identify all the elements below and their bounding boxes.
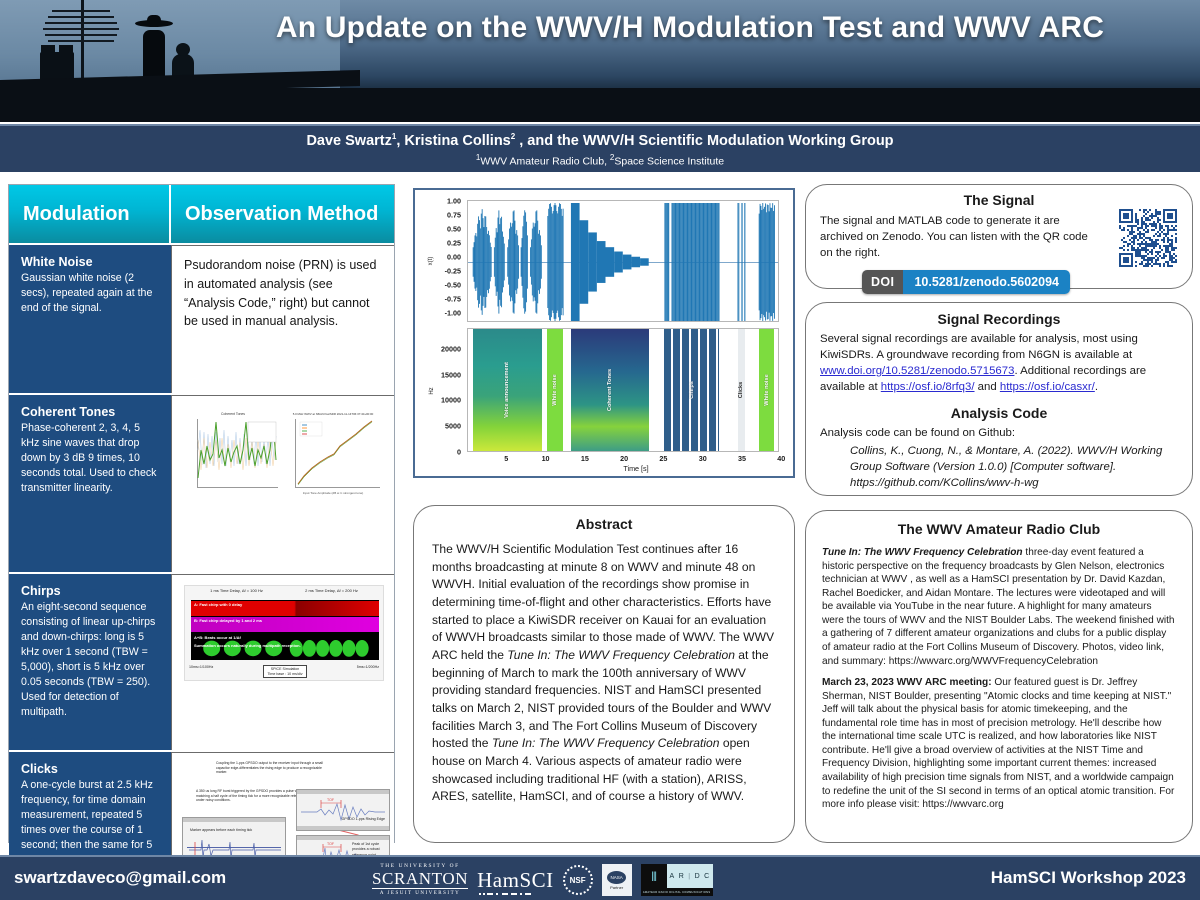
arc-meeting-label: March 23, 2023 WWV ARC meeting: [822, 677, 992, 688]
chirp-period-label-2: 5ms=1/200Hz [357, 665, 379, 678]
figure-axis-label: Input Tone Amplitude (dB w.r.t strongest… [284, 491, 382, 496]
doi-label: DOI [862, 270, 903, 294]
abstract-italic-1: Tune In: The WWV Frequency Celebration [507, 648, 735, 662]
chirp-band-ab: A+B: Beats occur at 1/Δf Summation occur… [191, 634, 379, 658]
chirp-band-a-label: A: Fast chirp with 0 delay [194, 602, 242, 608]
spectrogram-segment: White noise [547, 329, 563, 451]
y-tick: 20000 [421, 344, 461, 353]
abstract-text: The WWV/H Scientific Modulation Test con… [432, 541, 776, 806]
doi-badge[interactable]: DOI 10.5281/zenodo.5602094 [862, 270, 1070, 294]
chirp-band-b: B: Fast chirp delayed by 1 and 2 ms [191, 617, 379, 631]
hamsci-morse-dots [477, 892, 537, 896]
affiliation-list: 1WWV Amateur Radio Club, 2Space Science … [0, 153, 1200, 168]
yagi-element [45, 22, 117, 24]
tone-linearity-plot: 5.0 MHz WWV at N6GN KiwiSDR 2021-11-14T0… [284, 410, 382, 496]
spectrogram-segment: White noise [759, 329, 775, 451]
column-header-observation: Observation Method [171, 185, 394, 243]
yagi-element [52, 10, 110, 12]
recordings-link-osf-2[interactable]: https://osf.io/casxr/ [1000, 381, 1095, 393]
coherent-tones-figure: Coherent Tones 5.0 MHz WWV at N [186, 410, 382, 496]
table-header-row: Modulation Observation Method [9, 185, 394, 243]
spectrogram-axes: Voice announcementWhite noiseCoherent To… [467, 328, 779, 452]
y-tick: 0.50 [421, 225, 461, 234]
clicks-note-1: Coupling the 1-pps GPSDO output to the r… [216, 761, 324, 775]
waveform-plot [468, 201, 779, 322]
chirp-top-labels: 1 ms Time Delay, Δf = 100 Hz 2 ms Time D… [189, 588, 379, 594]
scope-trace-gpsdo [297, 790, 391, 832]
spice-title: SPICE Simulation [271, 667, 300, 671]
waveform-axes [467, 200, 779, 322]
spectrogram-segment-label: Voice announcement [504, 362, 510, 418]
abstract-panel: Abstract The WWV/H Scientific Modulation… [413, 505, 795, 843]
ardc-waveform-icon: ||| [641, 864, 667, 888]
hamsci-logo: HamSCI [477, 868, 554, 893]
ardc-letter-a: A [670, 873, 675, 880]
arc-title: The WWV Amateur Radio Club [822, 521, 1176, 537]
recordings-title: Signal Recordings [820, 311, 1178, 327]
modulation-title: White Noise [21, 255, 160, 269]
spice-timebase: Time base : 10 ms/div [267, 672, 302, 676]
footer-bar: swartzdaveco@gmail.com THE UNIVERSITY OF… [0, 855, 1200, 900]
x-tick: 5 [504, 454, 508, 463]
y-tick: 1.00 [421, 197, 461, 206]
recordings-link-doi[interactable]: www.doi.org/10.5281/zenodo.5715673 [820, 365, 1014, 377]
x-tick: 10 [542, 454, 550, 463]
column-header-modulation: Modulation [9, 185, 171, 243]
chirp-band-ab-note: Summation occurs naturally during multip… [194, 643, 301, 649]
yagi-element [45, 34, 117, 36]
chirp-delay-label-1: 1 ms Time Delay, Δf = 100 Hz [210, 588, 263, 594]
modulation-title: Clicks [21, 762, 160, 776]
nasa-partner-text: Partner [610, 885, 623, 890]
chirp-period-label-1: 10ms=1/100Hz [189, 665, 213, 678]
cell-modulation: Coherent Tones Phase-coherent 2, 3, 4, 5… [9, 395, 171, 572]
ardc-letter-d: D [695, 873, 701, 880]
yagi-element [48, 16, 114, 18]
signal-panel-title: The Signal [820, 192, 1178, 208]
nasa-logo-mark: NASA [607, 871, 626, 884]
y-tick: -0.75 [421, 295, 461, 304]
nsf-logo: NSF [563, 865, 593, 895]
y-tick: 0 [421, 448, 461, 457]
sponsor-logos: THE UNIVERSITY OF SCRANTON A JESUIT UNIV… [372, 860, 713, 900]
tone-waveform-svg [186, 410, 280, 496]
arc-paragraph-2-text: Our featured guest is Dr. Jeffrey Sherma… [822, 677, 1174, 810]
spectrogram-segment: Clicks [738, 329, 746, 451]
spectrogram-segment: Chirps [664, 329, 719, 451]
signal-panel-text: The signal and MATLAB code to generate i… [820, 213, 1090, 262]
spice-simulation-note: SPICE Simulation Time base : 10 ms/div [263, 665, 306, 678]
antenna-mast [81, 0, 84, 86]
signal-chart-panel: x(t) Hz 1.000.750.500.250.00-0.25-0.50-0… [413, 188, 795, 478]
analysis-code-title: Analysis Code [820, 405, 1178, 421]
linearity-scatter-svg [284, 410, 382, 496]
y-tick: 0.00 [421, 253, 461, 262]
poster-root: An Update on the WWV/H Modulation Test a… [0, 0, 1200, 900]
spectrogram-segment-label: Clicks [738, 382, 744, 398]
arc-panel: The WWV Amateur Radio Club Tune In: The … [805, 510, 1193, 843]
ardc-letter-r: R [679, 873, 685, 880]
cell-modulation: White Noise Gaussian white noise (2 secs… [9, 245, 171, 393]
spectrogram-segment-label: Chirps [689, 381, 695, 399]
spectrogram-segment: Coherent Tones [571, 329, 649, 451]
y-tick: 0.75 [421, 211, 461, 220]
chirp-bottom-labels: 10ms=1/100Hz SPICE Simulation Time base … [189, 665, 379, 678]
arc-paragraph-1: Tune In: The WWV Frequency Celebration t… [822, 546, 1176, 668]
signal-panel: The Signal The signal and MATLAB code to… [805, 184, 1193, 289]
yagi-element [48, 40, 114, 42]
hamsci-logo-text: HamSCI [477, 868, 554, 892]
scranton-logo-line3: A JESUIT UNIVERSITY [372, 891, 468, 896]
x-tick: 40 [777, 454, 785, 463]
chirp-band-a: A: Fast chirp with 0 delay [191, 601, 379, 615]
analysis-code-text: Analysis code can be found on Github: [820, 426, 1178, 442]
chart-area: x(t) Hz 1.000.750.500.250.00-0.25-0.50-0… [421, 196, 785, 472]
recordings-text-4: . [1095, 381, 1098, 393]
abstract-title: Abstract [432, 516, 776, 532]
spectrogram-segment-label: Coherent Tones [607, 369, 613, 411]
clicks-caption-3: GPSDO 1-pps Rising Edge [342, 817, 385, 822]
recordings-text-3: and [975, 381, 1000, 393]
ardc-letter-c: C [704, 873, 710, 880]
tof-label: TOF [327, 798, 334, 803]
doi-value: 10.5281/zenodo.5602094 [903, 270, 1070, 294]
table-row: White Noise Gaussian white noise (2 secs… [9, 243, 394, 393]
analysis-code-citation: Collins, K., Cuong, N., & Montare, A. (2… [850, 444, 1178, 492]
x-tick: 20 [620, 454, 628, 463]
modulation-description: Phase-coherent 2, 3, 4, 5 kHz sine waves… [21, 421, 160, 496]
y-tick: 10000 [421, 396, 461, 405]
modulation-title: Chirps [21, 584, 160, 598]
abstract-part-2: at the beginning of March to mark the 10… [432, 648, 771, 750]
chirp-figure: 1 ms Time Delay, Δf = 100 Hz 2 ms Time D… [184, 585, 384, 681]
yagi-element [43, 28, 119, 30]
y-tick: 15000 [421, 370, 461, 379]
scope-screenshot-top-right: TOF GPSDO 1-pps Rising Edge [296, 789, 390, 831]
author-list: Dave Swartz1, Kristina Collins2 , and th… [0, 132, 1200, 150]
nasa-partner-logo: NASA Partner [602, 864, 632, 896]
page-title: An Update on the WWV/H Modulation Test a… [210, 8, 1170, 48]
table-row: Chirps An eight-second sequence consisti… [9, 572, 394, 750]
qr-code[interactable] [1119, 209, 1177, 267]
recordings-text-1: Several signal recordings are available … [820, 333, 1138, 361]
recordings-text: Several signal recordings are available … [820, 332, 1178, 396]
spectrogram-segment-label: White noise [552, 374, 558, 405]
modulation-title: Coherent Tones [21, 405, 160, 419]
y-tick: -0.50 [421, 281, 461, 290]
x-tick: 35 [738, 454, 746, 463]
header-banner: An Update on the WWV/H Modulation Test a… [0, 0, 1200, 122]
clicks-caption-1: Marker appears before each timing tick [190, 828, 252, 833]
x-tick: 25 [659, 454, 667, 463]
coherent-tones-timeseries-plot: Coherent Tones [186, 410, 280, 496]
chirp-scope-display: A: Fast chirp with 0 delay B: Fast chirp… [191, 600, 379, 660]
modulation-description: An eight-second sequence consisting of l… [21, 600, 160, 720]
abstract-part-1: The WWV/H Scientific Modulation Test con… [432, 542, 774, 662]
x-axis-label: Time [s] [623, 464, 648, 473]
chirp-band-ab-label: A+B: Beats occur at 1/Δf [194, 635, 241, 641]
author-bar: Dave Swartz1, Kristina Collins2 , and th… [0, 124, 1200, 172]
nsf-logo-text: NSF [570, 876, 586, 885]
table-row: Coherent Tones Phase-coherent 2, 3, 4, 5… [9, 393, 394, 572]
x-tick: 30 [699, 454, 707, 463]
modulation-table: Modulation Observation Method White Nois… [8, 184, 395, 843]
event-name: HamSCI Workshop 2023 [991, 868, 1186, 888]
cell-observation: 1 ms Time Delay, Δf = 100 Hz 2 ms Time D… [171, 574, 394, 750]
arc-paragraph-1-text: three-day event featured a historic pers… [822, 547, 1175, 667]
arc-italic-title: Tune In: The WWV Frequency Celebration [822, 547, 1023, 558]
y-tick: 5000 [421, 422, 461, 431]
spectrogram-segment: Voice announcement [473, 329, 542, 451]
recordings-panel: Signal Recordings Several signal recordi… [805, 302, 1193, 496]
y-tick: -0.25 [421, 267, 461, 276]
contact-email[interactable]: swartzdaveco@gmail.com [14, 868, 226, 888]
cell-modulation: Chirps An eight-second sequence consisti… [9, 574, 171, 750]
chirp-delay-label-2: 2 ms Time Delay, Δf = 200 Hz [305, 588, 358, 594]
chirp-band-b-label: B: Fast chirp delayed by 1 and 2 ms [194, 618, 262, 624]
roofline [0, 88, 1200, 122]
abstract-italic-2: Tune In: The WWV Frequency Celebration [492, 736, 720, 750]
y-tick: 0.25 [421, 239, 461, 248]
recordings-link-osf-1[interactable]: https://osf.io/8rfq3/ [881, 381, 975, 393]
modulation-description: Gaussian white noise (2 secs), repeated … [21, 271, 160, 316]
x-tick: 15 [581, 454, 589, 463]
spectrogram-segment-label: White noise [764, 374, 770, 405]
ardc-logo: ||| A R | D C AMATEUR RADIO DIGITAL COMM… [641, 864, 713, 896]
scranton-logo: THE UNIVERSITY OF SCRANTON A JESUIT UNIV… [372, 864, 468, 895]
cell-observation: Psudorandom noise (PRN) is used in autom… [171, 245, 394, 393]
tof-label: TOF [327, 842, 334, 847]
scranton-logo-line2: SCRANTON [372, 870, 468, 889]
arc-paragraph-2: March 23, 2023 WWV ARC meeting: Our feat… [822, 676, 1176, 812]
y-tick: -1.00 [421, 309, 461, 318]
cell-observation: Coherent Tones 5.0 MHz WWV at N [171, 395, 394, 572]
ardc-subtitle: AMATEUR RADIO DIGITAL COMMUNICATIONS [641, 888, 713, 896]
